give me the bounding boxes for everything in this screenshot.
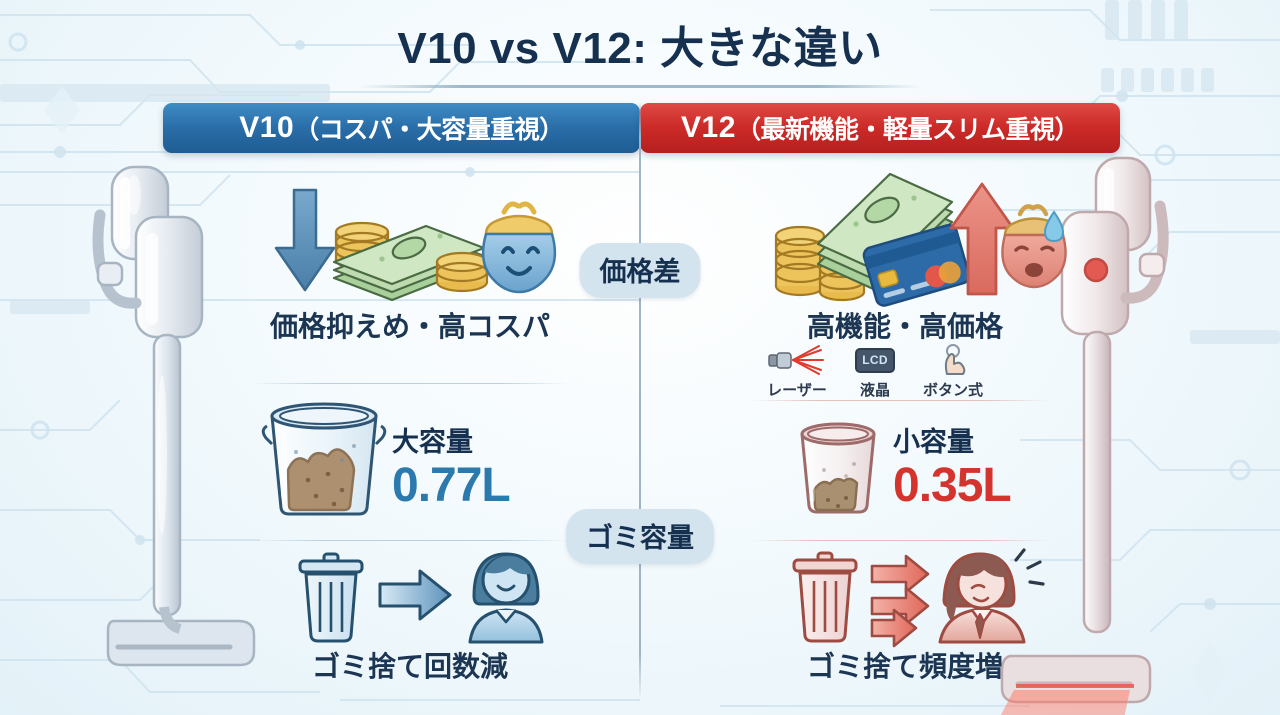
left-price-illustration bbox=[272, 186, 542, 296]
title-underline bbox=[360, 85, 920, 88]
left-disposal-caption: ゴミ捨て回数減 bbox=[250, 645, 570, 685]
calm-person-icon bbox=[470, 554, 542, 642]
right-price-illustration bbox=[772, 182, 1054, 300]
v10-model-label: V10 bbox=[239, 111, 294, 145]
coin-stack-right bbox=[437, 253, 487, 291]
right-price-caption: 高機能・高価格 bbox=[760, 305, 1050, 345]
center-label-price: 価格差 bbox=[580, 243, 701, 298]
money-stack-icon bbox=[334, 223, 487, 300]
large-dustbin-icon bbox=[258, 398, 390, 516]
infographic-canvas: V10 vs V12: 大きな違い V10 （コスパ・大容量重視） V12 （最… bbox=[0, 0, 1280, 715]
laser-icon bbox=[766, 344, 828, 376]
down-arrow-icon bbox=[276, 190, 334, 290]
left-row-separator-2 bbox=[250, 540, 570, 541]
tap-button-icon bbox=[922, 344, 984, 376]
small-dustbin-icon bbox=[788, 418, 888, 516]
v12-model-label: V12 bbox=[681, 111, 736, 145]
left-capacity-value: 0.77L bbox=[392, 462, 582, 510]
feature-lcd-label: 液晶 bbox=[844, 379, 906, 400]
left-row-separator-1 bbox=[250, 383, 570, 384]
column-header-v10[interactable]: V10 （コスパ・大容量重視） bbox=[163, 103, 640, 153]
right-capacity-block: 小容量 0.35L bbox=[893, 427, 1073, 510]
left-disposal-illustration bbox=[288, 548, 550, 644]
page-title-area: V10 vs V12: 大きな違い bbox=[0, 12, 1280, 88]
right-disposal-caption: ゴミ捨て頻度増 bbox=[760, 645, 1050, 685]
right-disposal-illustration bbox=[784, 548, 1046, 644]
lcd-screen-icon: LCD bbox=[844, 344, 906, 376]
feature-button: ボタン式 bbox=[922, 344, 984, 400]
column-header-v12[interactable]: V12 （最新機能・軽量スリム重視） bbox=[640, 103, 1120, 153]
trash-can-icon bbox=[300, 554, 362, 641]
stress-marks-icon bbox=[1016, 550, 1043, 584]
left-capacity-label: 大容量 bbox=[392, 427, 582, 458]
center-label-capacity: ゴミ容量 bbox=[566, 509, 714, 564]
right-capacity-value: 0.35L bbox=[893, 462, 1073, 510]
v10-detail-label: （コスパ・大容量重視） bbox=[294, 110, 564, 146]
stressed-person-icon bbox=[940, 554, 1024, 642]
arrow-right-icon bbox=[380, 571, 450, 619]
right-capacity-label: 小容量 bbox=[893, 427, 1073, 458]
left-capacity-block: 大容量 0.77L bbox=[392, 427, 582, 510]
triple-arrow-right-icon bbox=[872, 556, 928, 646]
page-title: V10 vs V12: 大きな違い bbox=[0, 12, 1280, 76]
left-price-caption: 価格抑えめ・高コスパ bbox=[250, 305, 570, 345]
worried-wallet-icon bbox=[1002, 206, 1065, 287]
feature-lcd: LCD 液晶 bbox=[844, 344, 906, 400]
column-divider bbox=[639, 100, 641, 700]
v12-feature-row: レーザー LCD 液晶 ボタン式 bbox=[766, 344, 984, 400]
feature-laser-label: レーザー bbox=[766, 379, 828, 400]
feature-button-label: ボタン式 bbox=[922, 379, 984, 400]
trash-can-icon bbox=[794, 553, 856, 641]
feature-laser: レーザー bbox=[766, 344, 828, 400]
v12-detail-label: （最新機能・軽量スリム重視） bbox=[736, 110, 1079, 146]
